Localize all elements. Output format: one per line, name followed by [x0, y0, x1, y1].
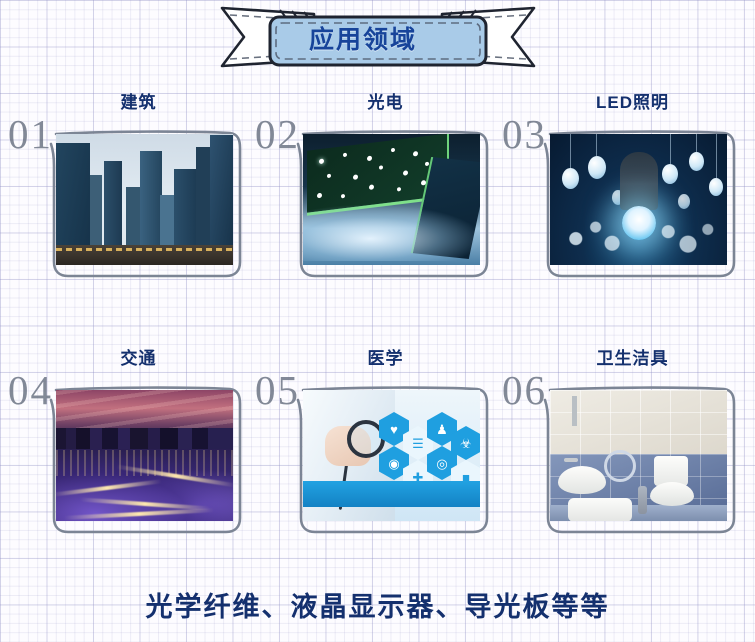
card-label-5: 医学 — [303, 344, 468, 369]
card-image-2 — [303, 134, 480, 265]
card-label-2: 光电 — [303, 88, 468, 113]
application-card-2[interactable]: 光电 02 — [255, 110, 490, 325]
card-image-3 — [550, 134, 727, 265]
application-card-3[interactable]: LED照明 03 — [502, 110, 737, 325]
card-number-2: 02 — [255, 114, 300, 155]
card-label-1: 建筑 — [56, 88, 221, 113]
card-number-1: 01 — [8, 114, 53, 155]
card-number-6: 06 — [502, 370, 547, 411]
card-image-4 — [56, 390, 233, 521]
card-number-5: 05 — [255, 370, 300, 411]
application-card-6[interactable]: 卫生洁具 06 — [502, 366, 737, 581]
card-image-5: ♥ ☰ ♟ ☣ ◉ ✚ ◎ ■ — [303, 390, 480, 521]
card-number-4: 04 — [8, 370, 53, 411]
card-label-3: LED照明 — [550, 88, 715, 113]
application-card-1[interactable]: 建筑 01 — [8, 110, 243, 325]
header-banner: 应用领域 — [0, 0, 755, 78]
card-label-6: 卫生洁具 — [550, 344, 715, 369]
card-image-6 — [550, 390, 727, 521]
application-card-4[interactable]: 交通 04 — [8, 366, 243, 581]
card-image-1 — [56, 134, 233, 265]
card-number-3: 03 — [502, 114, 547, 155]
card-label-4: 交通 — [56, 344, 221, 369]
application-card-5[interactable]: 医学 05 ♥ ☰ ♟ ☣ ◉ ✚ ◎ ■ — [255, 366, 490, 581]
footer-caption: 光学纤维、液晶显示器、导光板等等 — [0, 578, 755, 630]
page-title: 应用领域 — [268, 19, 458, 57]
